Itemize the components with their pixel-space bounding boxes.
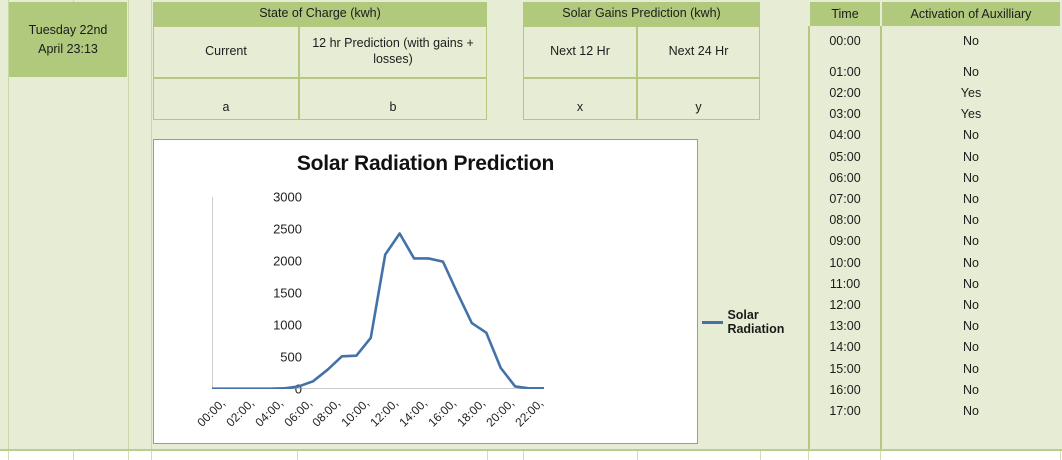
spreadsheet-dashboard: Tuesday 22nd April 23:13 State of Charge… [0, 0, 1062, 460]
gridline [8, 451, 9, 460]
gridline [297, 451, 298, 460]
worksheet-below-strip [0, 451, 1062, 460]
schedule-row-time: 03:00 [810, 104, 880, 125]
schedule-row-activation: No [882, 167, 1060, 188]
schedule-row-activation: No [882, 400, 1060, 421]
schedule-header-time: Time [810, 2, 880, 26]
schedule-row-activation: No [882, 146, 1060, 167]
schedule-row-activation: No [882, 30, 1060, 51]
gridline [151, 0, 152, 450]
legend-swatch-icon [702, 321, 723, 324]
datestamp-line1: Tuesday 22nd [29, 21, 108, 39]
schedule-row-time: 16:00 [810, 379, 880, 400]
state-of-charge-value-prediction[interactable]: b [299, 78, 487, 120]
legend-label-solar-radiation: Solar Radiation [727, 308, 793, 336]
gridline [1060, 451, 1061, 460]
chart-legend: Solar Radiation [702, 308, 793, 336]
schedule-row-time: 10:00 [810, 252, 880, 273]
schedule-row-time: 17:00 [810, 400, 880, 421]
datestamp-block: Tuesday 22nd April 23:13 [9, 2, 127, 77]
schedule-row-activation: No [882, 61, 1060, 82]
schedule-row-time: 02:00 [810, 82, 880, 103]
solar-gains-title: Solar Gains Prediction (kwh) [523, 2, 760, 26]
state-of-charge-col-header-current: Current [153, 26, 299, 78]
gridline [151, 451, 152, 460]
solar-gains-value-next12[interactable]: x [523, 78, 637, 120]
schedule-row-time: 01:00 [810, 61, 880, 82]
schedule-row-time: 12:00 [810, 294, 880, 315]
schedule-row-time: 09:00 [810, 231, 880, 252]
schedule-header-activation: Activation of Auxilliary [882, 2, 1060, 26]
schedule-row-activation: No [882, 273, 1060, 294]
schedule-row-activation: Yes [882, 82, 1060, 103]
gridline [523, 451, 524, 460]
gridline [880, 451, 881, 460]
schedule-row-time: 05:00 [810, 146, 880, 167]
schedule-row-activation: No [882, 125, 1060, 146]
chart-series-solar-radiation [212, 233, 544, 388]
schedule-row-activation: No [882, 358, 1060, 379]
state-of-charge-col-header-prediction: 12 hr Prediction (with gains + losses) [299, 26, 487, 78]
schedule-row-time: 15:00 [810, 358, 880, 379]
schedule-row-activation: No [882, 188, 1060, 209]
solar-gains-col-header-next24: Next 24 Hr [637, 26, 760, 78]
schedule-row-activation: No [882, 379, 1060, 400]
gridline [128, 0, 129, 450]
schedule-row-time: 11:00 [810, 273, 880, 294]
solar-gains-col-header-next12: Next 12 Hr [523, 26, 637, 78]
schedule-row-activation: No [882, 210, 1060, 231]
schedule-row-activation: No [882, 231, 1060, 252]
gridline [808, 451, 809, 460]
schedule-row-activation: Yes [882, 104, 1060, 125]
schedule-row-time: 07:00 [810, 188, 880, 209]
gridline [128, 451, 129, 460]
gridline [637, 451, 638, 460]
solar-gains-value-next24[interactable]: y [637, 78, 760, 120]
schedule-row-activation: No [882, 294, 1060, 315]
chart-plot-area [212, 197, 544, 389]
solar-radiation-chart: Solar Radiation Prediction 0500100015002… [153, 139, 698, 444]
schedule-row-activation: No [882, 316, 1060, 337]
schedule-row-activation: No [882, 337, 1060, 358]
schedule-row-time: 13:00 [810, 316, 880, 337]
schedule-row-time: 08:00 [810, 210, 880, 231]
schedule-row-time: 06:00 [810, 167, 880, 188]
state-of-charge-title: State of Charge (kwh) [153, 2, 487, 26]
schedule-row-time: 00:00 [810, 30, 880, 51]
gridline [760, 451, 761, 460]
gridline [73, 451, 74, 460]
state-of-charge-value-current[interactable]: a [153, 78, 299, 120]
datestamp-line2: April 23:13 [29, 40, 108, 58]
schedule-row-time: 14:00 [810, 337, 880, 358]
gridline [487, 451, 488, 460]
chart-title: Solar Radiation Prediction [154, 152, 697, 176]
schedule-row-activation: No [882, 252, 1060, 273]
schedule-row-time: 04:00 [810, 125, 880, 146]
